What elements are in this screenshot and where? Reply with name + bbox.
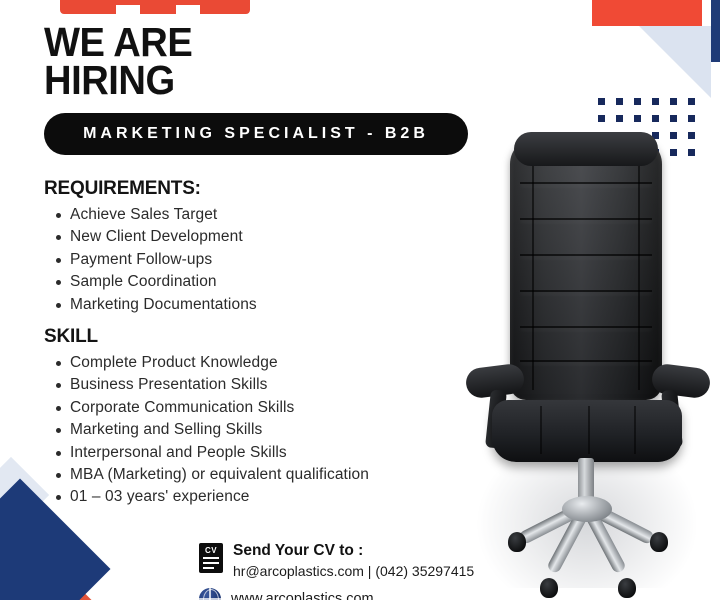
list-item: Interpersonal and People Skills xyxy=(70,442,444,464)
job-title-text: MARKETING SPECIALIST - B2B xyxy=(83,125,429,143)
chair-caster xyxy=(540,578,558,598)
list-item: Achieve Sales Target xyxy=(70,204,444,226)
contact-block: CV Send Your CV to : hr@arcoplastics.com… xyxy=(199,541,529,600)
list-item: Corporate Communication Skills xyxy=(70,397,444,419)
top-right-red-block xyxy=(592,0,702,26)
headline-we-are-hiring: WE ARE HIRING xyxy=(44,24,192,99)
skill-heading: SKILL xyxy=(44,326,444,348)
skill-section: SKILL Complete Product Knowledge Busines… xyxy=(44,326,444,509)
list-item: Marketing Documentations xyxy=(70,294,444,316)
website-text[interactable]: www.arcoplastics.com xyxy=(231,590,374,600)
top-right-triangle xyxy=(639,26,711,98)
list-item: Marketing and Selling Skills xyxy=(70,419,444,441)
cv-icon-label: CV xyxy=(199,546,223,555)
chair-caster xyxy=(618,578,636,598)
company-logo-mark xyxy=(60,0,250,14)
requirements-list: Achieve Sales Target New Client Developm… xyxy=(44,204,444,316)
skill-list: Complete Product Knowledge Business Pres… xyxy=(44,352,444,509)
list-item: Sample Coordination xyxy=(70,271,444,293)
list-item: New Client Development xyxy=(70,226,444,248)
send-cv-row: CV Send Your CV to : hr@arcoplastics.com… xyxy=(199,541,529,581)
email-phone-text[interactable]: hr@arcoplastics.com | (042) 35297415 xyxy=(233,561,474,581)
chair-seat xyxy=(492,400,682,462)
website-row[interactable]: www.arcoplastics.com xyxy=(199,588,529,600)
globe-icon xyxy=(199,588,221,600)
list-item: 01 – 03 years' experience xyxy=(70,486,444,508)
contact-text: Send Your CV to : hr@arcoplastics.com | … xyxy=(233,541,474,581)
send-cv-label: Send Your CV to : xyxy=(233,541,474,560)
list-item: MBA (Marketing) or equivalent qualificat… xyxy=(70,464,444,486)
list-item: Complete Product Knowledge xyxy=(70,352,444,374)
hiring-poster: WE ARE HIRING MARKETING SPECIALIST - B2B… xyxy=(0,0,720,600)
list-item: Payment Follow-ups xyxy=(70,249,444,271)
top-right-navy-bar xyxy=(711,0,720,62)
list-item: Business Presentation Skills xyxy=(70,374,444,396)
cv-document-icon: CV xyxy=(199,543,223,573)
chair-caster xyxy=(650,532,668,552)
chair-base-hub xyxy=(562,496,612,522)
requirements-heading: REQUIREMENTS: xyxy=(44,178,444,200)
office-chair-photo xyxy=(452,128,720,600)
chair-armrest-right xyxy=(650,363,711,400)
chair-headrest xyxy=(514,132,658,166)
job-title-banner: MARKETING SPECIALIST - B2B xyxy=(44,113,468,155)
chair-backrest xyxy=(510,138,662,400)
requirements-section: REQUIREMENTS: Achieve Sales Target New C… xyxy=(44,178,444,316)
